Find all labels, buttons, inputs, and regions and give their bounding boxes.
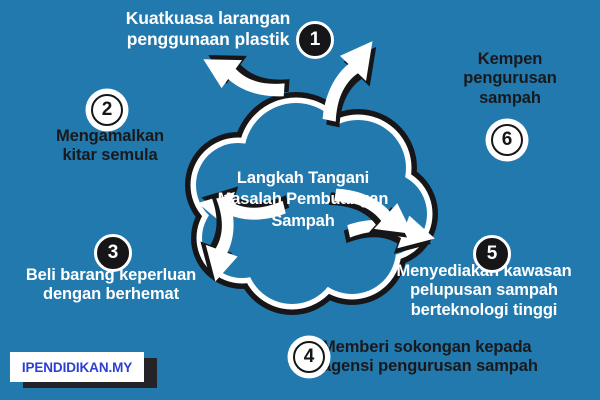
arrow-to-step-2 [201, 53, 291, 98]
watermark-box: IPENDIDIKAN.MY [10, 352, 144, 382]
center-cloud-title: Langkah Tangani Masalah Pembuangan Sampa… [195, 168, 411, 232]
step-label-6: Kempen pengurusan sampah [440, 50, 580, 108]
step-badge-4-number: 4 [293, 341, 325, 373]
step-badge-1: 1 [296, 21, 334, 59]
step-label-2: Mengamalkan kitar semula [30, 127, 190, 166]
step-badge-5: 5 [473, 235, 511, 273]
step-badge-3-number: 3 [97, 237, 129, 269]
watermark: IPENDIDIKAN.MY [10, 352, 144, 382]
step-badge-3: 3 [94, 234, 132, 272]
step-label-1: Kuatkuasa larangan penggunaan plastik [108, 8, 308, 49]
step-badge-6-number: 6 [491, 124, 523, 156]
watermark-text: IPENDIDIKAN.MY [22, 360, 132, 375]
step-label-4: Memberi sokongan kepada agensi pengurusa… [322, 338, 572, 377]
step-badge-2-number: 2 [91, 94, 123, 126]
step-badge-4: 4 [290, 338, 328, 376]
infographic-poster: Langkah Tangani Masalah Pembuangan Sampa… [0, 0, 600, 400]
step-badge-6: 6 [488, 121, 526, 159]
step-badge-1-number: 1 [299, 24, 331, 56]
step-badge-2: 2 [88, 91, 126, 129]
step-badge-5-number: 5 [476, 238, 508, 270]
